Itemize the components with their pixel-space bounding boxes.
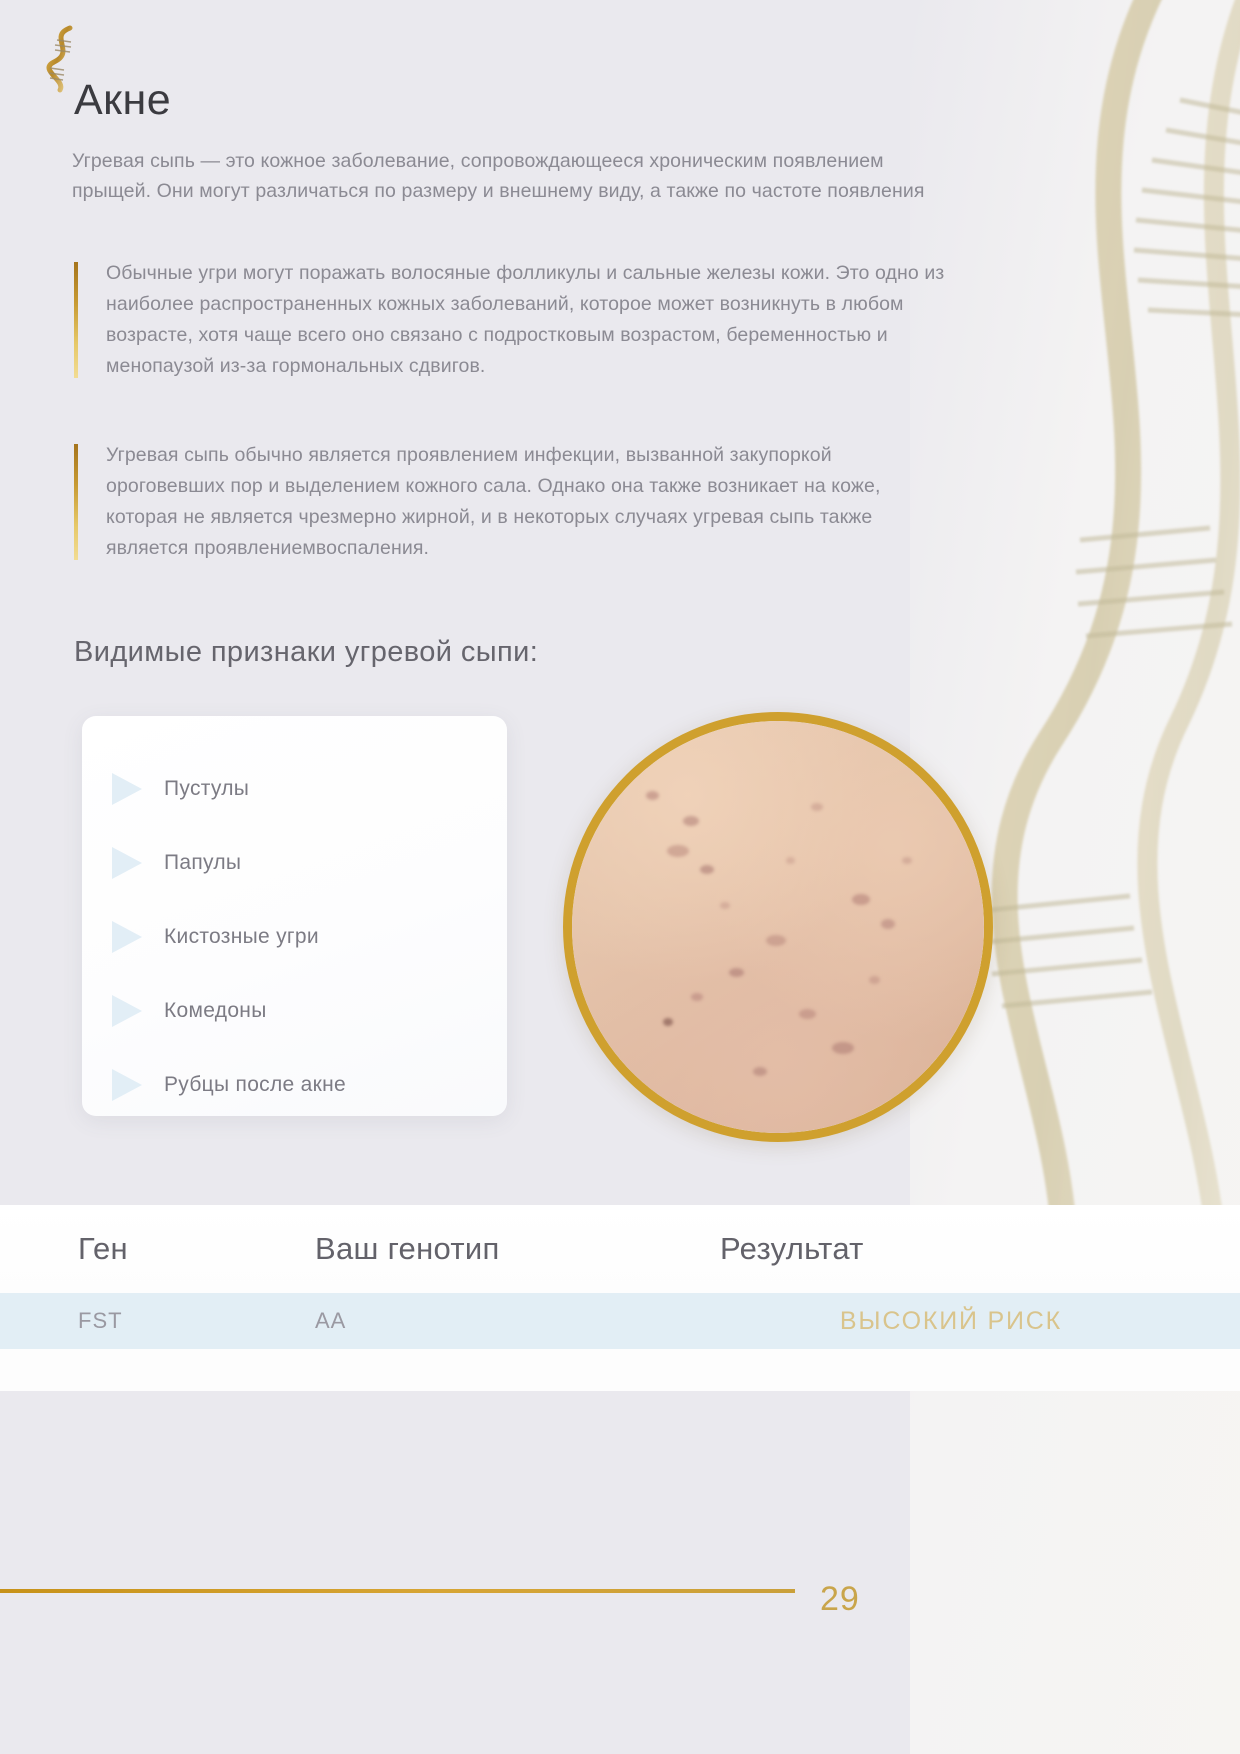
triangle-right-icon: [112, 921, 142, 953]
skin-texture: [572, 721, 984, 1133]
list-item-label: Кистозные угри: [164, 925, 319, 949]
symptoms-card: Пустулы Папулы Кистозные угри Комедоны Р…: [82, 716, 507, 1116]
column-header-gene: Ген: [0, 1231, 315, 1267]
highlight-paragraph-1: Обычные угри могут поражать волосяные фо…: [74, 258, 954, 382]
symptoms-heading: Видимые признаки угревой сыпи:: [74, 636, 538, 669]
list-item: Пустулы: [82, 752, 507, 826]
cell-genotype: AA: [315, 1308, 720, 1334]
list-item-label: Папулы: [164, 851, 241, 875]
list-item: Кистозные угри: [82, 900, 507, 974]
triangle-right-icon: [112, 773, 142, 805]
status-badge: ВЫСОКИЙ РИСК: [720, 1307, 1240, 1336]
dna-background-art: [880, 0, 1240, 1380]
list-item: Комедоны: [82, 974, 507, 1048]
triangle-right-icon: [112, 995, 142, 1027]
triangle-right-icon: [112, 1069, 142, 1101]
table-header-row: Ген Ваш генотип Результат: [0, 1205, 1240, 1293]
list-item-label: Комедоны: [164, 999, 267, 1023]
table-footer-strip: [0, 1349, 1240, 1391]
highlight-paragraph-2: Угревая сыпь обычно является проявлением…: [74, 440, 954, 564]
list-item-label: Пустулы: [164, 777, 249, 801]
page-root: Акне Угревая сыпь — это кожное заболеван…: [0, 0, 1240, 1754]
acne-skin-photo: [563, 712, 993, 1142]
list-item-label: Рубцы после акне: [164, 1073, 346, 1097]
triangle-right-icon: [112, 847, 142, 879]
footer-divider: [0, 1589, 795, 1593]
table-row: FST AA ВЫСОКИЙ РИСК: [0, 1293, 1240, 1349]
results-table: Ген Ваш генотип Результат FST AA ВЫСОКИЙ…: [0, 1205, 1240, 1390]
page-title: Акне: [74, 76, 171, 125]
intro-paragraph: Угревая сыпь — это кожное заболевание, с…: [72, 146, 952, 206]
column-header-result: Результат: [720, 1231, 1240, 1267]
cell-gene: FST: [0, 1308, 315, 1334]
page-number: 29: [820, 1580, 860, 1619]
column-header-genotype: Ваш генотип: [315, 1231, 720, 1267]
list-item: Папулы: [82, 826, 507, 900]
list-item: Рубцы после акне: [82, 1048, 507, 1122]
